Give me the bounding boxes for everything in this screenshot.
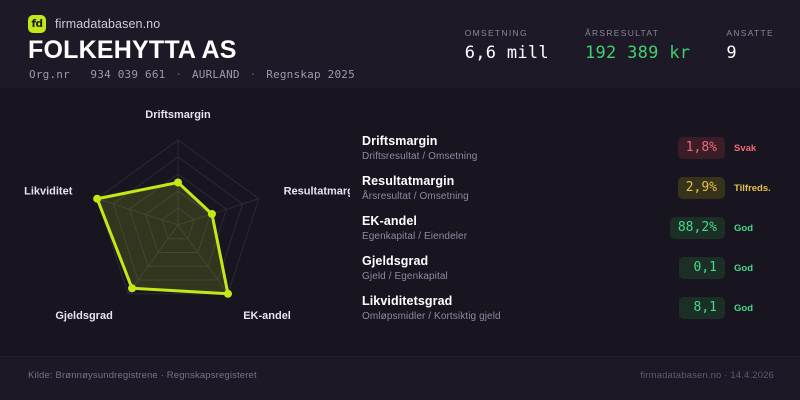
- stat-arsresultat: ÅRSRESULTAT 192 389 kr: [585, 28, 690, 63]
- metric-right: 88,2% God: [670, 217, 782, 239]
- metric-name: Likviditetsgrad: [362, 294, 679, 310]
- meta-separator-2: ·: [247, 68, 260, 81]
- metric-text: Gjeldsgrad Gjeld / Egenkapital: [362, 254, 679, 283]
- metric-value-badge: 1,8%: [678, 137, 725, 159]
- radar-chart: DriftsmarginResultatmarginEK-andelGjelds…: [0, 88, 350, 346]
- card-header: fd firmadatabasen.no FOLKEHYTTA AS Org.n…: [0, 0, 800, 88]
- metric-formula: Gjeld / Egenkapital: [362, 271, 679, 282]
- metric-right: 1,8% Svak: [678, 137, 782, 159]
- metric-value-badge: 8,1: [679, 297, 725, 319]
- radar-data-point[interactable]: [128, 284, 136, 292]
- metric-name: Driftsmargin: [362, 134, 678, 150]
- metric-value-badge: 2,9%: [678, 177, 725, 199]
- metric-row: Driftsmargin Driftsresultat / Omsetning …: [362, 128, 782, 168]
- metric-verdict: God: [734, 263, 782, 274]
- metric-text: Resultatmargin Årsresultat / Omsetning: [362, 174, 678, 203]
- metric-text: Likviditetsgrad Omløpsmidler / Kortsikti…: [362, 294, 679, 323]
- radar-axis-label: EK-andel: [243, 310, 291, 322]
- stat-label: OMSETNING: [465, 28, 549, 38]
- radar-data-point[interactable]: [93, 195, 101, 203]
- metric-formula: Driftsresultat / Omsetning: [362, 151, 678, 162]
- metric-verdict: God: [734, 303, 782, 314]
- company-financial-card: fd firmadatabasen.no FOLKEHYTTA AS Org.n…: [0, 0, 800, 400]
- page-title: FOLKEHYTTA AS: [28, 36, 237, 65]
- metric-name: EK-andel: [362, 214, 670, 230]
- stat-value: 192 389 kr: [585, 43, 690, 63]
- metric-right: 2,9% Tilfreds.: [678, 177, 782, 199]
- metric-value-badge: 88,2%: [670, 217, 725, 239]
- stat-value: 6,6 mill: [465, 43, 549, 63]
- meta-separator-1: ·: [172, 68, 185, 81]
- company-meta-line: Org.nr 934 039 661 · AURLAND · Regnskap …: [29, 68, 355, 81]
- footer-accent-bar: [0, 394, 800, 400]
- footer-credit: firmadatabasen.no · 14.4.2026: [640, 370, 774, 381]
- metric-verdict: Tilfreds.: [734, 183, 782, 194]
- stat-ansatte: ANSATTE 9: [726, 28, 774, 63]
- firmadatabasen-logo-icon: fd: [28, 15, 46, 33]
- org-number-label: Org.nr: [29, 68, 70, 81]
- card-footer: Kilde: Brønnøysundregistrene · Regnskaps…: [0, 357, 800, 394]
- radar-chart-panel: DriftsmarginResultatmarginEK-andelGjelds…: [0, 88, 350, 346]
- stat-label: ÅRSRESULTAT: [585, 28, 690, 38]
- municipality: AURLAND: [192, 68, 240, 81]
- stat-omsetning: OMSETNING 6,6 mill: [465, 28, 549, 63]
- metric-name: Resultatmargin: [362, 174, 678, 190]
- metric-right: 0,1 God: [679, 257, 782, 279]
- metric-formula: Årsresultat / Omsetning: [362, 191, 678, 202]
- metric-row: Likviditetsgrad Omløpsmidler / Kortsikti…: [362, 288, 782, 328]
- radar-data-point[interactable]: [224, 290, 232, 298]
- metric-row: Gjeldsgrad Gjeld / Egenkapital 0,1 God: [362, 248, 782, 288]
- metric-formula: Omløpsmidler / Kortsiktig gjeld: [362, 311, 679, 322]
- metric-formula: Egenkapital / Eiendeler: [362, 231, 670, 242]
- metric-verdict: God: [734, 223, 782, 234]
- accounting-year: Regnskap 2025: [266, 68, 355, 81]
- metric-verdict: Svak: [734, 143, 782, 154]
- radar-axis-label: Driftsmargin: [145, 109, 211, 121]
- radar-data-point[interactable]: [208, 210, 216, 218]
- metric-name: Gjeldsgrad: [362, 254, 679, 270]
- brand-lockup[interactable]: fd firmadatabasen.no: [28, 15, 160, 33]
- radar-axis-label: Resultatmargin: [284, 186, 350, 198]
- metric-right: 8,1 God: [679, 297, 782, 319]
- metric-value-badge: 0,1: [679, 257, 725, 279]
- org-number-value: 934 039 661: [90, 68, 165, 81]
- radar-series-area: [97, 183, 228, 294]
- metric-row: Resultatmargin Årsresultat / Omsetning 2…: [362, 168, 782, 208]
- stat-value: 9: [726, 43, 774, 63]
- metric-row: EK-andel Egenkapital / Eiendeler 88,2% G…: [362, 208, 782, 248]
- metrics-list: Driftsmargin Driftsresultat / Omsetning …: [362, 128, 782, 328]
- header-stats: OMSETNING 6,6 mill ÅRSRESULTAT 192 389 k…: [465, 28, 774, 63]
- brand-site-name: firmadatabasen.no: [55, 17, 160, 31]
- metric-text: Driftsmargin Driftsresultat / Omsetning: [362, 134, 678, 163]
- radar-axis-label: Likviditet: [24, 186, 73, 198]
- metric-text: EK-andel Egenkapital / Eiendeler: [362, 214, 670, 243]
- footer-source: Kilde: Brønnøysundregistrene · Regnskaps…: [28, 370, 257, 381]
- stat-label: ANSATTE: [726, 28, 774, 38]
- radar-data-point[interactable]: [174, 179, 182, 187]
- radar-axis-label: Gjeldsgrad: [55, 310, 112, 322]
